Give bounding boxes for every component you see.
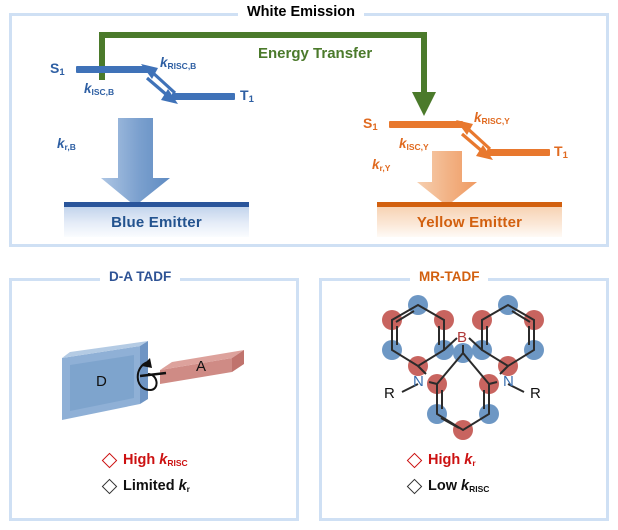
nitrogen-right-label: N: [503, 374, 514, 389]
energy-transfer-label: Energy Transfer: [258, 45, 372, 62]
mr-legend-text-1: Low kRISC: [428, 479, 489, 494]
mr-tadf-molecule-svg: [0, 0, 618, 530]
r-group-right-label: R: [530, 386, 541, 401]
panel-title-white-emission: White Emission: [238, 5, 364, 20]
mr-legend-item-1: Low kRISC: [409, 479, 489, 494]
r-group-left-label: R: [384, 386, 395, 401]
panel-title-mr-tadf: MR-TADF: [410, 270, 488, 284]
figure-root: White Emission Energy Transfer S1 T1 kRI…: [0, 0, 618, 530]
mr-legend-item-0: High kr: [409, 453, 476, 468]
diamond-icon: [407, 478, 423, 494]
bottom-ring: [437, 353, 489, 430]
boron-atom-label: B: [457, 330, 467, 345]
panel-title-da-tadf: D-A TADF: [100, 270, 180, 284]
mr-legend-text-0: High kr: [428, 453, 476, 468]
nitrogen-left-label: N: [413, 374, 424, 389]
diamond-icon: [407, 452, 423, 468]
